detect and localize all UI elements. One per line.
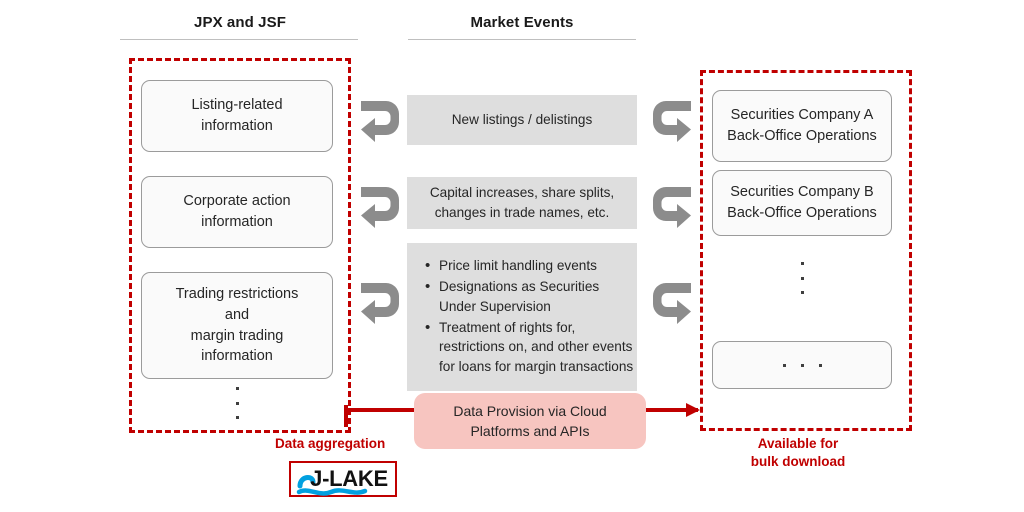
ellipsis-dot [819,364,822,367]
right-box-securities-company-a-label: Securities Company A Back-Office Operati… [713,105,891,146]
event-box-capital-increases-label: Capital increases, share splits, changes… [430,183,614,222]
ellipsis-dot [801,262,804,265]
ellipsis-dot [801,277,804,280]
left-box-trading-restrictions-information-label: Trading restrictions and margin trading … [142,284,332,366]
label-bulk-download-line1: Available for [703,435,893,453]
uturn-arrow-right-icon [651,278,693,326]
cloud-data-provision-label: Data Provision via Cloud Platforms and A… [453,401,606,442]
j-lake-logo[interactable]: J-LAKE [289,461,397,497]
event-box-new-listings[interactable]: New listings / delistings [407,95,637,145]
ellipsis-dot [236,416,239,419]
uturn-arrow-right-icon [651,182,693,230]
ellipsis-dot [236,402,239,405]
ellipsis-dot [801,291,804,294]
uturn-arrow-left-icon [359,96,401,144]
event-bullet-item: Designations as Securities Under Supervi… [425,277,637,316]
event-box-capital-increases[interactable]: Capital increases, share splits, changes… [407,177,637,229]
label-bulk-download-line2: bulk download [703,453,893,471]
right-box-securities-company-b[interactable]: Securities Company B Back-Office Operati… [712,170,892,236]
uturn-arrow-right-icon [651,96,693,144]
column-title-middle: Market Events [408,14,636,31]
column-rule-middle [408,39,636,40]
diagram-canvas: JPX and JSF Market Events Listing-relate… [0,0,1024,512]
left-column-ellipsis [235,387,239,419]
j-lake-logo-text: J-LAKE [298,466,388,492]
event-bullet-list: Price limit handling events Designations… [407,256,637,377]
column-rule-left [120,39,358,40]
flow-arrow-right-icon [686,400,706,420]
ellipsis-dot [236,387,239,390]
event-box-new-listings-label: New listings / delistings [452,110,593,130]
ellipsis-dot [783,364,786,367]
uturn-arrow-left-icon [359,182,401,230]
right-box-more-companies-ellipsis [713,364,891,367]
flow-connector-left [344,408,420,412]
right-box-securities-company-b-label: Securities Company B Back-Office Operati… [713,182,891,223]
event-box-margin-events[interactable]: Price limit handling events Designations… [407,243,637,391]
uturn-arrow-left-icon [359,278,401,326]
right-box-more-companies[interactable] [712,341,892,389]
left-box-trading-restrictions-information[interactable]: Trading restrictions and margin trading … [141,272,333,379]
cloud-data-provision-box[interactable]: Data Provision via Cloud Platforms and A… [414,393,646,449]
ellipsis-dot [801,364,804,367]
right-column-ellipsis [800,262,804,294]
left-box-corporate-action-information[interactable]: Corporate action information [141,176,333,248]
column-title-left: JPX and JSF [120,14,360,31]
event-bullet-item: Treatment of rights for, restrictions on… [425,318,637,377]
label-bulk-download: Available for bulk download [703,435,893,470]
left-box-corporate-action-information-label: Corporate action information [142,191,332,232]
event-bullet-item: Price limit handling events [425,256,637,276]
left-box-listing-information[interactable]: Listing-related information [141,80,333,152]
left-box-listing-information-label: Listing-related information [142,95,332,136]
right-box-securities-company-a[interactable]: Securities Company A Back-Office Operati… [712,90,892,162]
